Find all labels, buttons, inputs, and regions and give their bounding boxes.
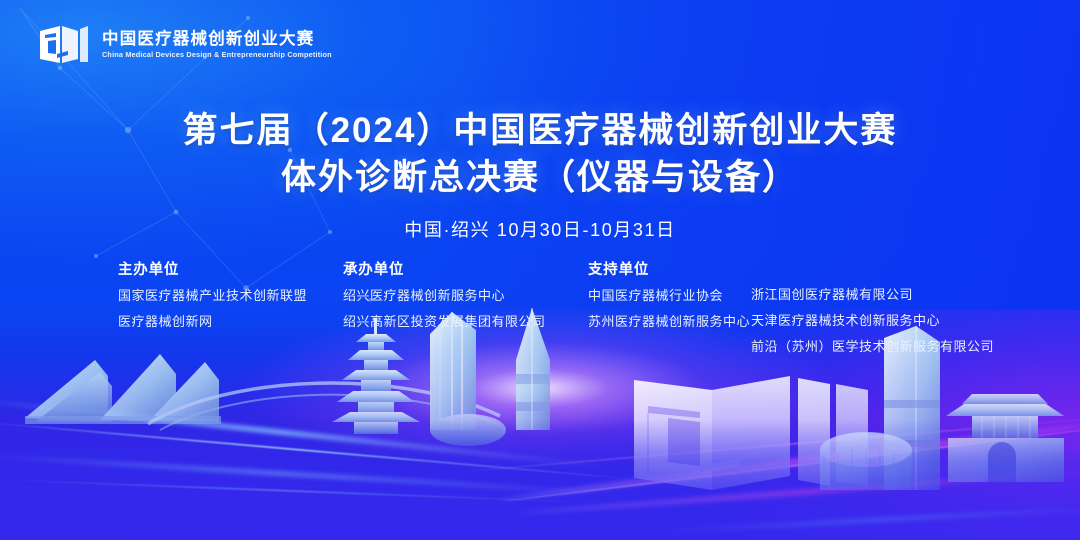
organizer-heading: 主办单位 <box>118 263 343 278</box>
event-poster: 中国医疗器械创新创业大赛 China Medical Devices Desig… <box>0 0 1080 540</box>
organizer-item: 中国医疗器械行业协会 <box>588 289 751 302</box>
organizer-item: 国家医疗器械产业技术创新联盟 <box>118 289 343 302</box>
organizer-column-host: 主办单位 国家医疗器械产业技术创新联盟 医疗器械创新网 <box>118 263 343 341</box>
stepped-terrace-building-icon-2 <box>1060 416 1080 486</box>
organizer-item: 天津医疗器械技术创新服务中心 <box>751 314 1001 327</box>
brand-name-en: China Medical Devices Design & Entrepren… <box>102 51 332 59</box>
organizer-column-support-extra: 浙江国创医疗器械有限公司 天津医疗器械技术创新服务中心 前沿（苏州）医学技术创新… <box>751 263 1001 366</box>
chinese-gate-tower-icon <box>946 394 1064 482</box>
brand-name-cn: 中国医疗器械创新创业大赛 <box>102 31 341 48</box>
organizers-block: 主办单位 国家医疗器械产业技术创新联盟 医疗器械创新网 承办单位 绍兴医疗器械创… <box>118 263 1001 366</box>
title-line-1: 第七届（2024）中国医疗器械创新创业大赛 <box>0 108 1080 155</box>
organizer-item: 前沿（苏州）医学技术创新服务有限公司 <box>751 340 1001 353</box>
organizer-heading: 支持单位 <box>588 263 751 278</box>
organizer-item: 苏州医疗器械创新服务中心 <box>588 315 751 328</box>
competition-door-mark-icon <box>38 22 90 68</box>
organizer-item: 浙江国创医疗器械有限公司 <box>751 288 1001 301</box>
hero-title-block: 第七届（2024）中国医疗器械创新创业大赛 体外诊断总决赛（仪器与设备） 中国·… <box>0 108 1080 242</box>
organizer-item: 绍兴高新区投资发展集团有限公司 <box>343 315 588 328</box>
event-location-date: 中国·绍兴 10月30日-10月31日 <box>0 216 1080 242</box>
organizer-heading: 承办单位 <box>343 263 588 278</box>
title-line-2: 体外诊断总决赛（仪器与设备） <box>0 155 1080 202</box>
oval-stadium-icon <box>820 432 912 490</box>
brand-logo: 中国医疗器械创新创业大赛 China Medical Devices Desig… <box>38 22 341 68</box>
organizer-column-support: 支持单位 中国医疗器械行业协会 苏州医疗器械创新服务中心 <box>588 263 751 341</box>
organizer-column-undertaker: 承办单位 绍兴医疗器械创新服务中心 绍兴高新区投资发展集团有限公司 <box>343 263 588 341</box>
organizer-item: 绍兴医疗器械创新服务中心 <box>343 289 588 302</box>
organizer-item: 医疗器械创新网 <box>118 315 343 328</box>
